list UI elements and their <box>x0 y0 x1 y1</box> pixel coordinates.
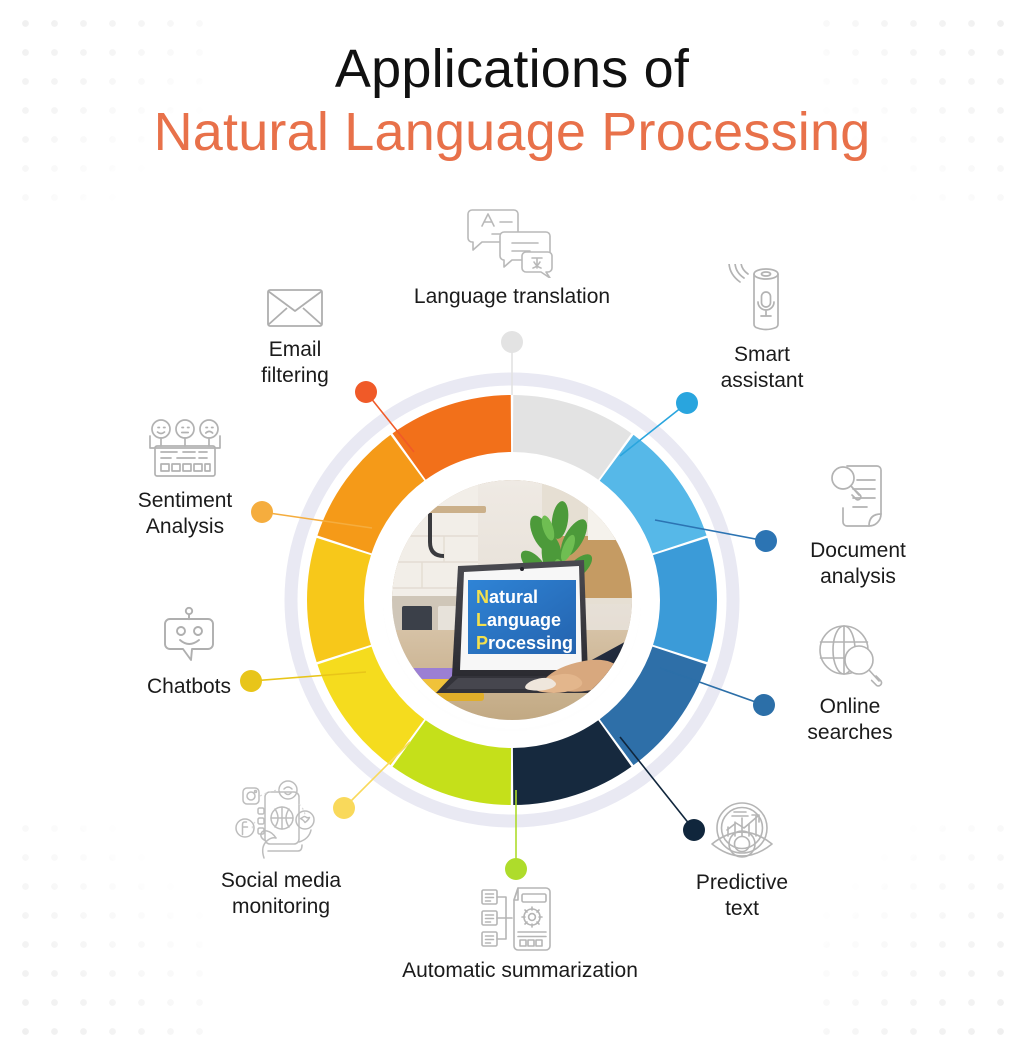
application-social-media-monitoring[interactable]: Social media monitoring <box>172 778 390 919</box>
application-label: Language translation <box>362 284 662 310</box>
svg-text:Natural: Natural <box>476 587 538 607</box>
eye-chart-icon <box>706 800 778 866</box>
phone-social-icon <box>225 778 337 864</box>
connector-dot-automatic-summarization[interactable] <box>505 858 527 880</box>
application-chatbots[interactable]: Chatbots <box>106 604 272 700</box>
application-label: Online searches <box>760 694 940 745</box>
application-label: Sentiment Analysis <box>92 488 278 539</box>
application-label: Document analysis <box>762 538 954 589</box>
application-email-filtering[interactable]: Email filtering <box>205 284 385 388</box>
wheel-segment-document-analysis[interactable] <box>653 538 717 662</box>
envelope-icon <box>264 284 326 330</box>
connector-dot-smart-assistant[interactable] <box>676 392 698 414</box>
globe-search-icon <box>813 622 887 688</box>
application-label: Chatbots <box>106 674 272 700</box>
application-smart-assistant[interactable]: Smart assistant <box>672 264 852 393</box>
svg-text:Language: Language <box>476 610 561 630</box>
summarization-gear-icon <box>478 884 562 954</box>
application-label: Email filtering <box>205 337 385 388</box>
laptop-workspace-illustration: Natural Language Processing <box>392 480 632 720</box>
application-automatic-summarization[interactable]: Automatic summarization <box>372 884 668 984</box>
center-photo: Natural Language Processing <box>392 480 632 720</box>
document-magnifier-icon <box>823 462 893 532</box>
application-sentiment-analysis[interactable]: Sentiment Analysis <box>92 418 278 539</box>
wheel-segment-chatbots[interactable] <box>307 538 371 662</box>
application-online-searches[interactable]: Online searches <box>760 622 940 745</box>
translate-bubbles-icon <box>464 204 560 278</box>
application-predictive-text[interactable]: Predictive text <box>654 800 830 921</box>
application-language-translation[interactable]: Language translation <box>362 204 662 310</box>
connector-dot-language-translation[interactable] <box>501 331 523 353</box>
application-label: Smart assistant <box>672 342 852 393</box>
robot-chat-icon <box>157 604 221 668</box>
smart-speaker-icon <box>724 264 800 334</box>
svg-text:Processing: Processing <box>476 633 573 653</box>
application-document-analysis[interactable]: Document analysis <box>762 462 954 589</box>
infographic-canvas: Applications of Natural Language Process… <box>0 0 1024 1024</box>
application-label: Social media monitoring <box>172 868 390 919</box>
sentiment-faces-icon <box>139 418 231 482</box>
application-label: Automatic summarization <box>372 958 668 984</box>
application-label: Predictive text <box>654 870 830 921</box>
